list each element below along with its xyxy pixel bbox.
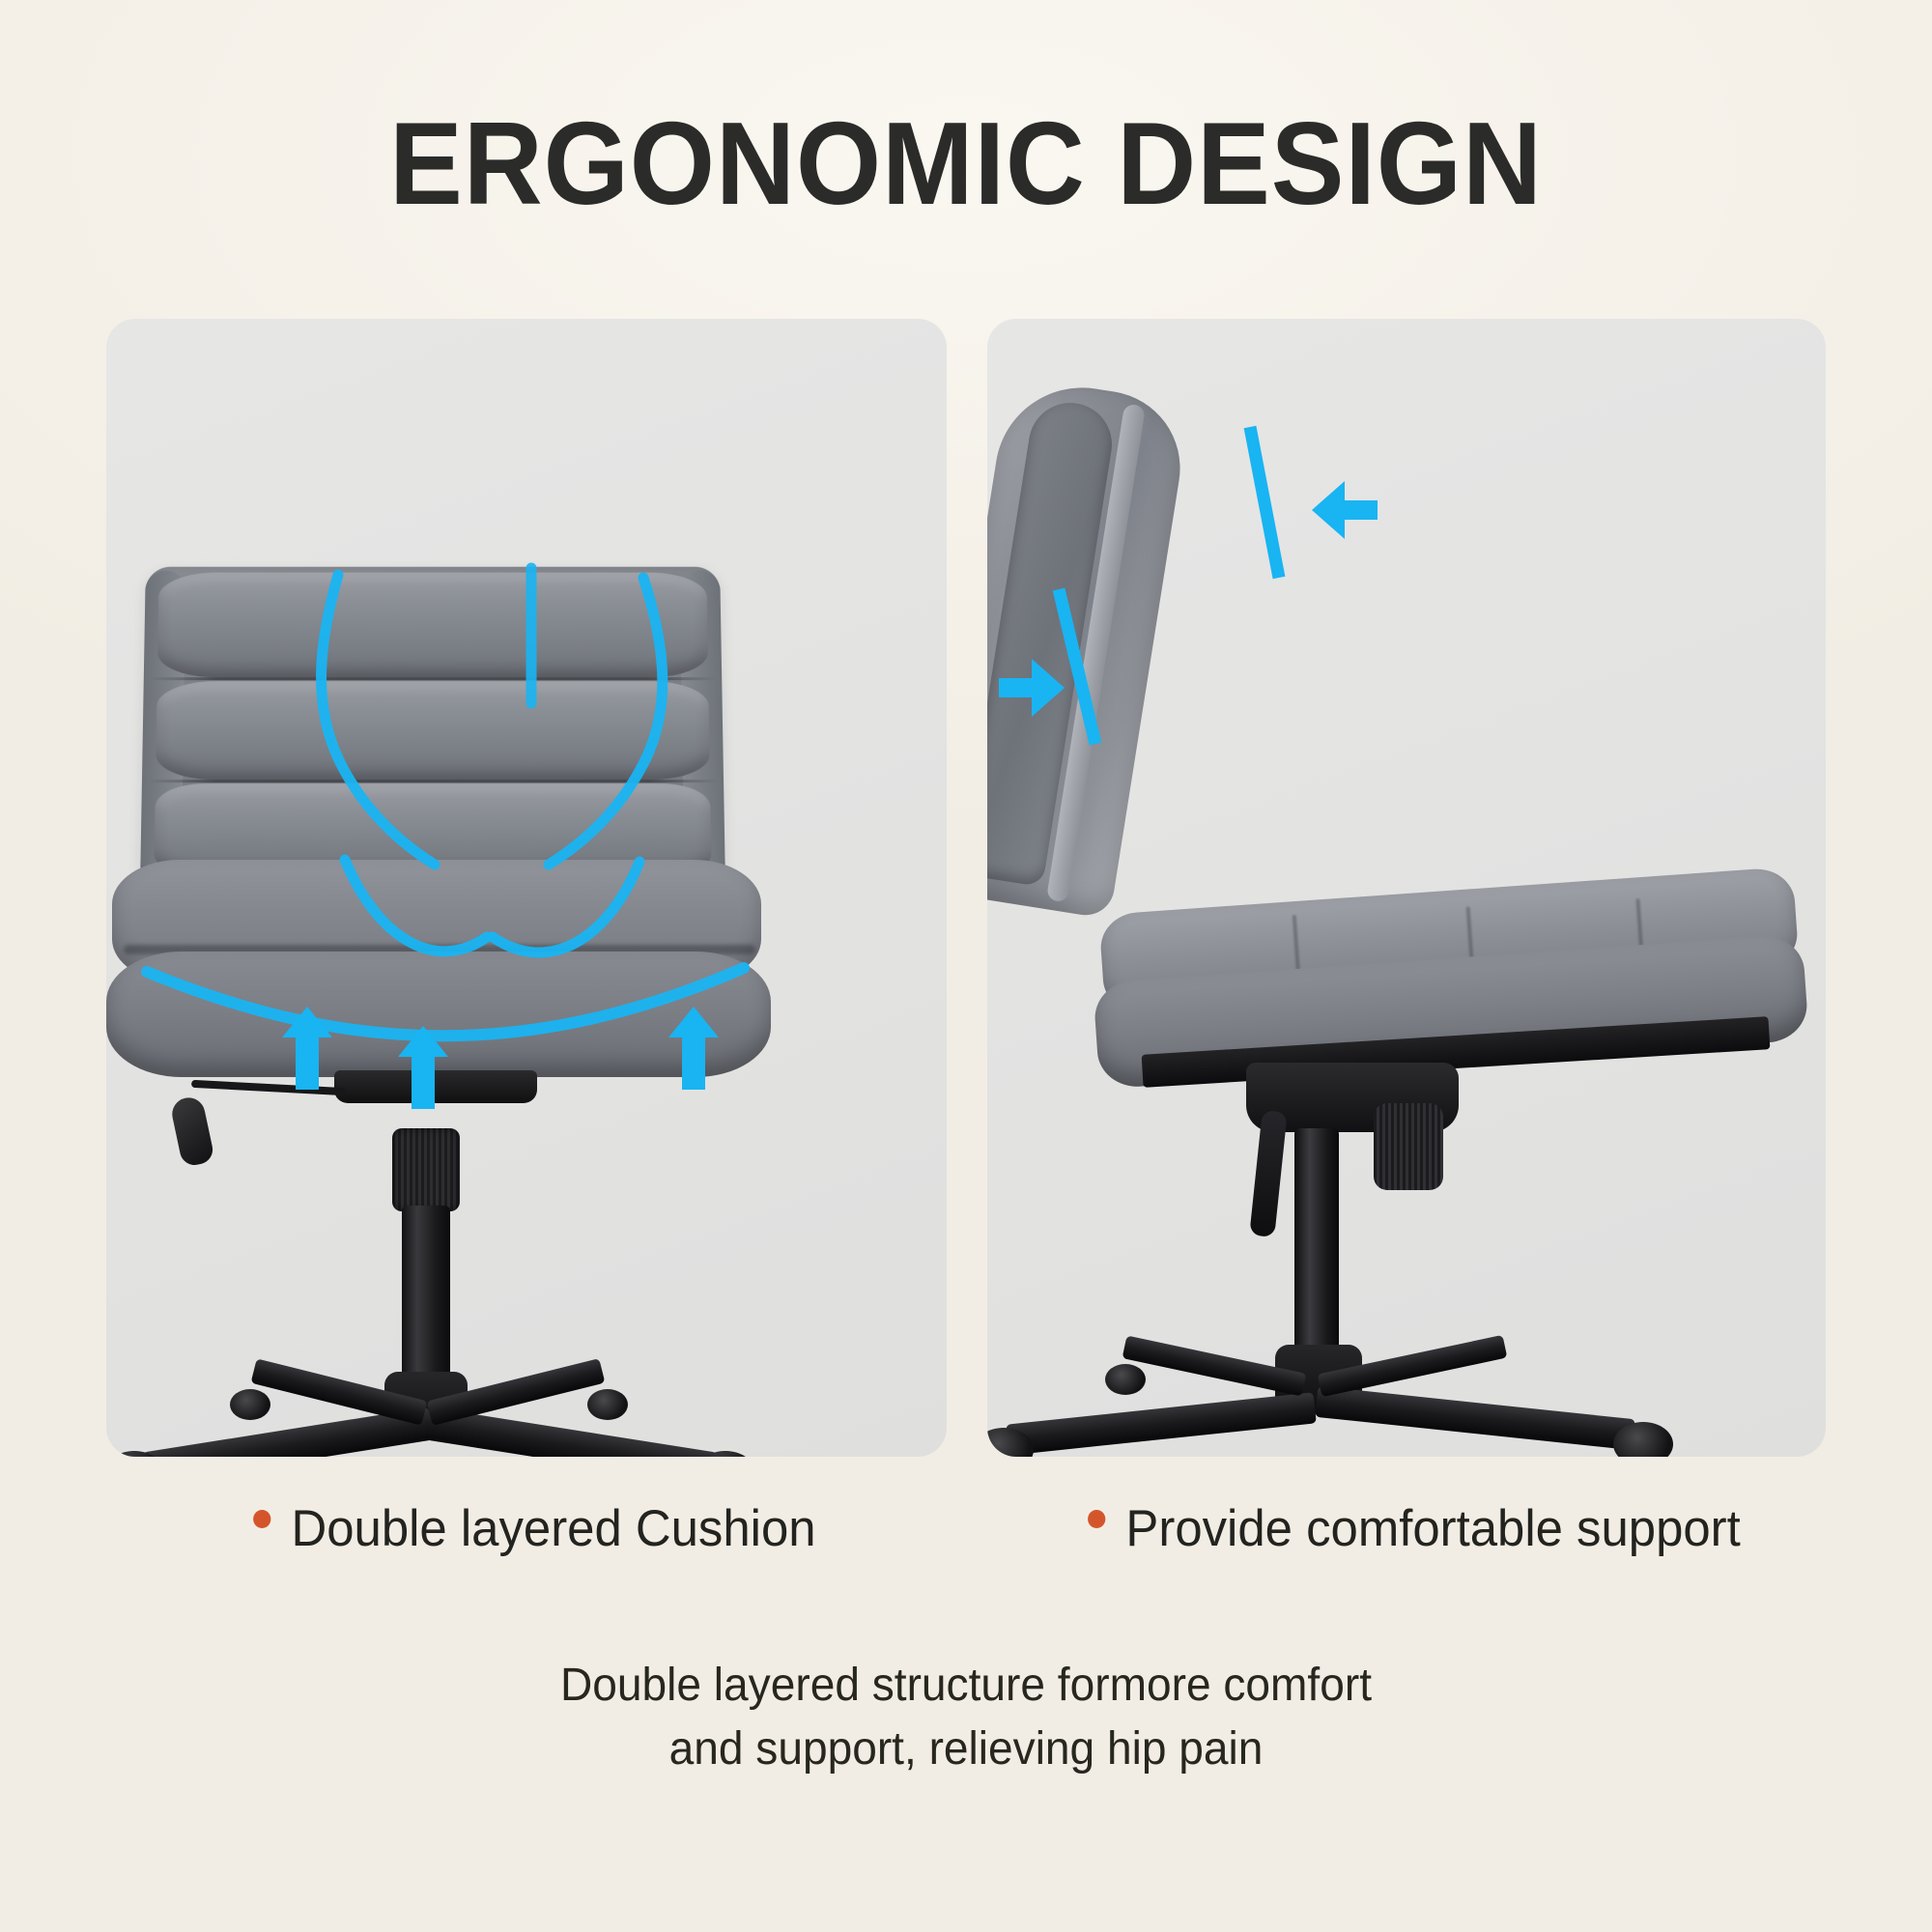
seat-tuft-1: [1293, 915, 1300, 975]
side-caster-back: [1613, 1422, 1673, 1457]
chair-backrest: [140, 567, 725, 881]
feature-panel-right: [987, 319, 1826, 1457]
backrest-seam-upper: [150, 677, 717, 680]
infographic-canvas: ERGONOMIC DESIGN: [0, 0, 1932, 1932]
side-caster-rear-left: [1105, 1364, 1146, 1395]
bullet-dot-icon: [253, 1510, 270, 1528]
side-gas-lift-cylinder: [1294, 1128, 1339, 1370]
panel-right-clip: [987, 319, 1826, 1457]
caster-rear-right: [587, 1389, 628, 1420]
seat-mechanism-plate: [334, 1070, 537, 1103]
page-title: ERGONOMIC DESIGN: [68, 104, 1864, 222]
tension-adjust-knob: [1374, 1103, 1443, 1190]
description-line-2: and support, relieving hip pain: [39, 1718, 1893, 1781]
caster-rear-left: [230, 1389, 270, 1420]
caption-right-label: Provide comfortable support: [1125, 1499, 1740, 1558]
backrest-seam-lower: [148, 780, 718, 782]
caption-right: Provide comfortable support: [1088, 1499, 1741, 1558]
caption-left: Double layered Cushion: [253, 1499, 815, 1558]
backrest-roll-mid: [156, 681, 710, 780]
panel-left-clip: [106, 319, 947, 1457]
chair-side-view-image: [987, 319, 1826, 1457]
gas-lift-cylinder: [402, 1206, 450, 1399]
side-height-adjust-lever: [1249, 1110, 1287, 1237]
gas-lift-collar: [392, 1128, 460, 1211]
description-block: Double layered structure formore comfort…: [39, 1654, 1893, 1781]
height-adjust-lever-handle: [169, 1094, 215, 1168]
backrest-roll-top: [157, 573, 708, 678]
description-line-1: Double layered structure formore comfort: [39, 1654, 1893, 1718]
seat-cushion-lower-layer: [106, 952, 771, 1077]
bullet-dot-icon: [1088, 1510, 1105, 1528]
side-base-leg-back: [1315, 1386, 1635, 1450]
caption-left-label: Double layered Cushion: [291, 1499, 815, 1558]
side-backrest-outer: [987, 375, 1191, 919]
chair-front-view-image: [106, 319, 947, 1457]
feature-panel-left: [106, 319, 947, 1457]
height-adjust-lever-arm: [191, 1080, 346, 1095]
side-base-leg-front: [1006, 1392, 1317, 1455]
